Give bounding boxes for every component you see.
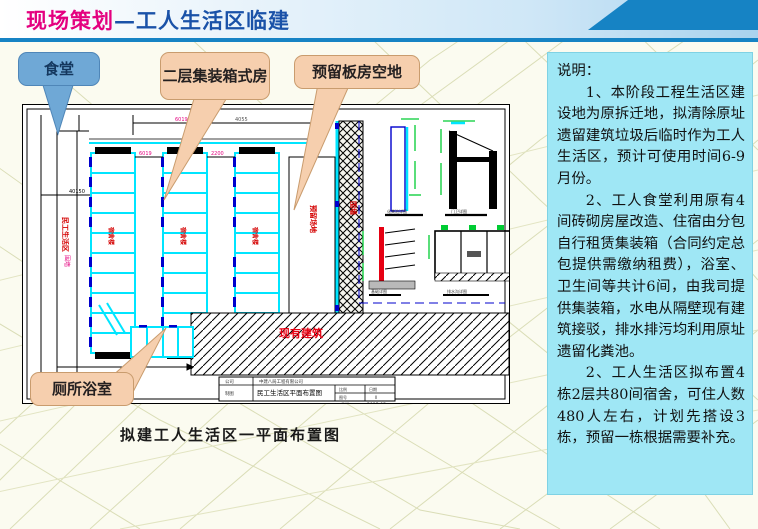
- svg-text:排水沟详图: 排水沟详图: [447, 288, 467, 294]
- svg-text:40150: 40150: [69, 189, 85, 195]
- callout-reserve-label: 预留板房空地: [312, 63, 402, 82]
- notes-item-3: 2、工人生活区拟布置4栋2层共80间宿舍，可住人数480人左右，计划先搭设3栋，…: [557, 363, 745, 449]
- header-accent-rule: [0, 38, 758, 42]
- svg-text:II: II: [375, 395, 377, 400]
- page-title-red: 现场策划: [26, 8, 114, 33]
- svg-text:3300: 3300: [135, 361, 148, 367]
- callout-reserved-area[interactable]: 预留板房空地: [294, 55, 420, 89]
- svg-text:中建八局工程有限公司: 中建八局工程有限公司: [259, 378, 303, 385]
- svg-text:日期: 日期: [369, 386, 377, 392]
- svg-text:门卫详图: 门卫详图: [451, 208, 467, 214]
- svg-text:宿舍楼: 宿舍楼: [107, 227, 115, 245]
- svg-text:围墙: 围墙: [63, 255, 71, 267]
- svg-text:6019: 6019: [139, 151, 152, 157]
- svg-text:基础详图: 基础详图: [371, 288, 387, 294]
- callout-container-building[interactable]: 二层集装箱式房: [160, 52, 270, 100]
- svg-text:制图: 制图: [225, 390, 234, 397]
- svg-text:2015.05: 2015.05: [367, 402, 386, 403]
- notes-heading: 说明：: [557, 61, 745, 83]
- svg-text:宿舍楼: 宿舍楼: [179, 227, 187, 245]
- callout-canteen[interactable]: 食堂: [18, 52, 100, 86]
- svg-text:4055: 4055: [235, 117, 248, 123]
- floor-plan-drawing: 40150 6019 4055 民工生活区 围墙: [22, 104, 510, 404]
- callout-toilet-label: 厕所浴室: [52, 380, 112, 399]
- page-title: 现场策划—工人生活区临建: [26, 5, 290, 35]
- svg-text:公司: 公司: [225, 379, 234, 385]
- callout-toilet-bathroom[interactable]: 厕所浴室: [30, 372, 134, 406]
- svg-text:围墙: 围墙: [349, 201, 358, 215]
- header-wedge-icon: [588, 0, 758, 40]
- svg-text:2200: 2200: [211, 151, 224, 157]
- svg-text:民工生活区平面布置图: 民工生活区平面布置图: [257, 388, 322, 397]
- svg-text:化粪池详图: 化粪池详图: [387, 208, 407, 214]
- svg-text:预留场地: 预留场地: [309, 205, 318, 233]
- svg-text:6019: 6019: [175, 117, 188, 123]
- svg-text:日期: 日期: [341, 401, 349, 403]
- svg-text:宿舍楼: 宿舍楼: [251, 227, 259, 245]
- notes-panel: 说明： 1、本阶段工程生活区建设地为原拆迁地，拟清除原址遗留建筑垃圾后临时作为工…: [547, 52, 753, 495]
- svg-text:比例: 比例: [339, 386, 347, 392]
- drawing-caption: 拟建工人生活区一平面布置图: [120, 424, 341, 445]
- notes-item-1: 1、本阶段工程生活区建设地为原拆迁地，拟清除原址遗留建筑垃圾后临时作为工人生活区…: [557, 83, 745, 191]
- callout-container-label: 二层集装箱式房: [162, 67, 267, 86]
- svg-text:现有建筑: 现有建筑: [279, 326, 323, 340]
- callout-canteen-label: 食堂: [44, 60, 74, 79]
- page-title-dash: —: [114, 8, 136, 33]
- notes-item-2: 2、工人食堂利用原有4间砖砌房屋改造、住宿由分包自行租赁集装箱（合同约定总包提供…: [557, 191, 745, 364]
- page-title-blue: 工人生活区临建: [136, 8, 290, 33]
- svg-text:图号: 图号: [339, 394, 347, 400]
- svg-text:民工生活区: 民工生活区: [61, 217, 70, 252]
- floor-plan-svg: 40150 6019 4055 民工生活区 围墙: [23, 105, 509, 403]
